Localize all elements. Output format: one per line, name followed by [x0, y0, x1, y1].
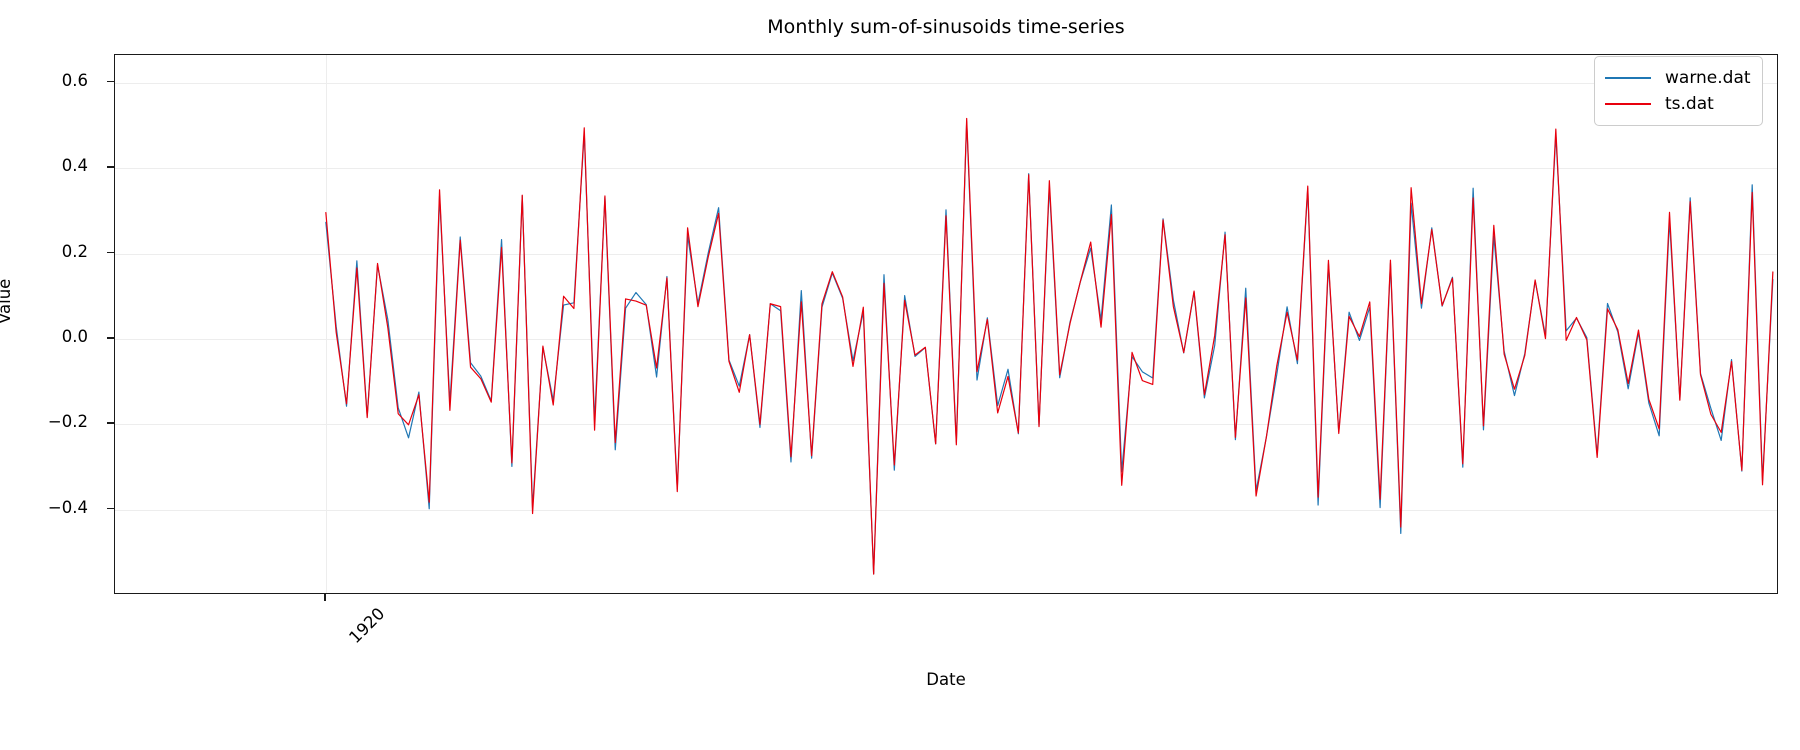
x-tick-mark: [324, 594, 326, 601]
legend-entry: warne.dat: [1605, 65, 1751, 91]
chart-title: Monthly sum-of-sinusoids time-series: [114, 16, 1778, 38]
chart-legend: warne.datts.dat: [1594, 56, 1763, 126]
y-tick-mark: [107, 81, 114, 83]
legend-label: warne.dat: [1665, 68, 1751, 88]
y-tick-label: −0.4: [0, 498, 96, 517]
y-tick-mark: [107, 166, 114, 168]
series-canvas: [115, 55, 1777, 593]
x-axis-label: Date: [114, 670, 1778, 689]
legend-label: ts.dat: [1665, 94, 1714, 114]
y-tick-label: 0.2: [0, 242, 96, 261]
y-tick-label: 0.0: [0, 327, 96, 346]
y-tick-mark: [107, 252, 114, 254]
chart-figure: Monthly sum-of-sinusoids time-series 0.6…: [0, 0, 1800, 750]
y-tick-label: −0.2: [0, 412, 96, 431]
y-tick-label: 0.4: [0, 156, 96, 175]
y-tick-mark: [107, 508, 114, 510]
legend-color-swatch: [1605, 103, 1651, 105]
y-tick-label: 0.6: [0, 71, 96, 90]
series-line-ts-dat: [326, 118, 1773, 574]
legend-entry: ts.dat: [1605, 91, 1751, 117]
y-tick-mark: [107, 422, 114, 424]
y-tick-mark: [107, 337, 114, 339]
y-axis-label: Value: [0, 279, 14, 324]
legend-color-swatch: [1605, 77, 1651, 79]
plot-area: [114, 54, 1778, 594]
x-tick-label: 1920: [345, 604, 388, 647]
